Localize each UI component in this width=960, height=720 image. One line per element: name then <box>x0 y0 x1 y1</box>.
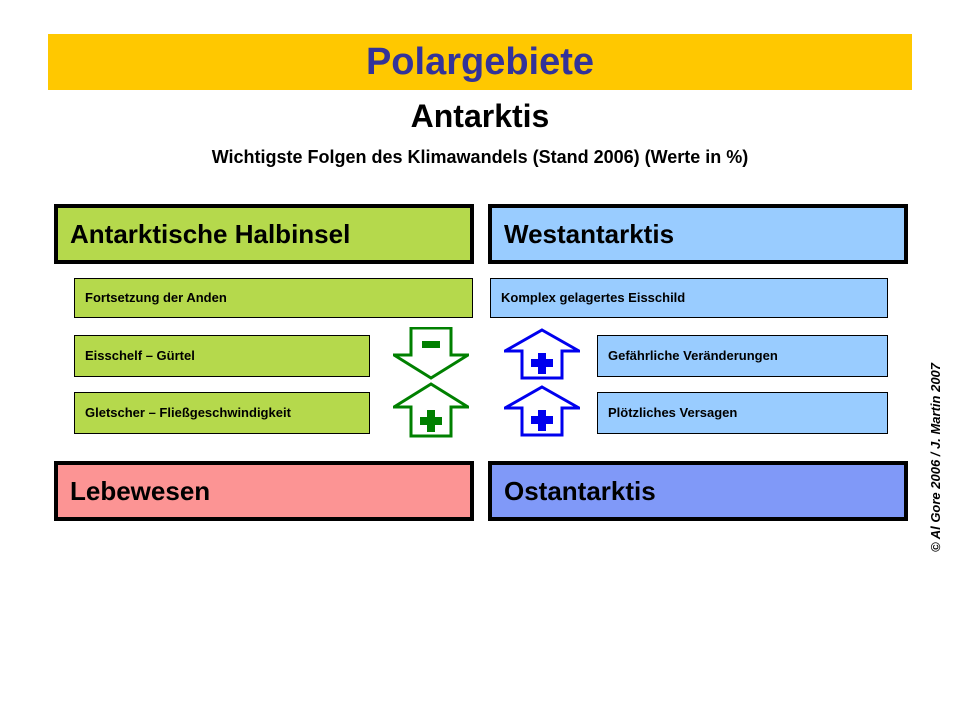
right-column-header-label: Westantarktis <box>504 221 674 247</box>
left-item-box-3: Gletscher – Fließgeschwindigkeit <box>74 392 370 434</box>
right-item-label-1: Komplex gelagertes Eisschild <box>501 291 685 305</box>
arrow-down-minus-icon <box>393 327 469 380</box>
caption: Wichtigste Folgen des Klimawandels (Stan… <box>0 148 960 168</box>
right-item-box-1: Komplex gelagertes Eisschild <box>490 278 888 318</box>
right-item-box-2: Gefährliche Veränderungen <box>597 335 888 377</box>
copyright-notice: © Al Gore 2006 / J. Martin 2007 <box>928 352 943 552</box>
left-item-box-2: Eisschelf – Gürtel <box>74 335 370 377</box>
left-item-label-3: Gletscher – Fließgeschwindigkeit <box>85 406 291 420</box>
left-item-label-2: Eisschelf – Gürtel <box>85 349 195 363</box>
left-item-box-1: Fortsetzung der Anden <box>74 278 473 318</box>
right-item-label-3: Plötzliches Versagen <box>608 406 737 420</box>
right-column-header-box: Westantarktis <box>488 204 908 264</box>
left-item-label-1: Fortsetzung der Anden <box>85 291 227 305</box>
right-column-footer-label: Ostantarktis <box>504 478 656 504</box>
left-column-header-label: Antarktische Halbinsel <box>70 221 350 247</box>
left-column-footer-label: Lebewesen <box>70 478 210 504</box>
slide-canvas: Polargebiete Antarktis Wichtigste Folgen… <box>0 0 960 720</box>
left-column-footer-box: Lebewesen <box>54 461 474 521</box>
right-column-footer-box: Ostantarktis <box>488 461 908 521</box>
arrow-up-plus-icon <box>504 328 580 380</box>
left-column-header-box: Antarktische Halbinsel <box>54 204 474 264</box>
page-title: Polargebiete <box>48 34 912 90</box>
title-banner: Polargebiete <box>48 34 912 90</box>
right-item-label-2: Gefährliche Veränderungen <box>608 349 778 363</box>
arrow-up-plus-icon <box>504 385 580 437</box>
arrow-up-plus-icon <box>393 382 469 438</box>
subtitle: Antarktis <box>0 99 960 134</box>
right-item-box-3: Plötzliches Versagen <box>597 392 888 434</box>
